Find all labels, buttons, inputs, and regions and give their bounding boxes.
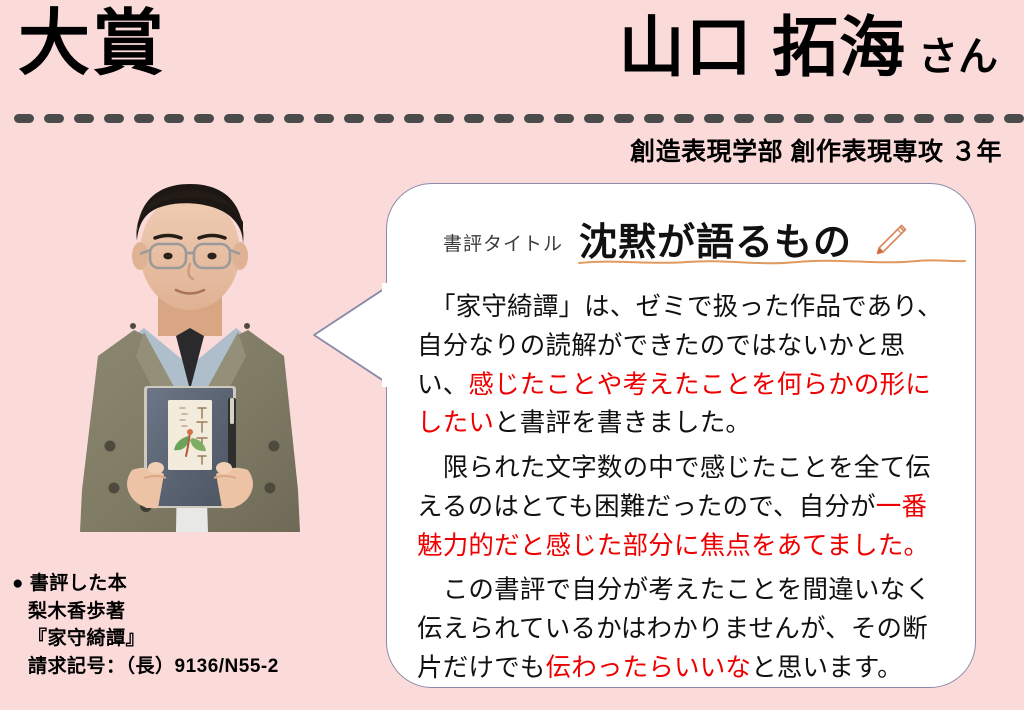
winner-honorific: さん <box>918 37 998 77</box>
divider-dash <box>464 114 484 123</box>
divider-dash <box>44 114 64 123</box>
divider-dash <box>224 114 244 123</box>
review-title-row: 書評タイトル 沈黙が語るもの <box>417 206 949 262</box>
body-text-segment: と書評を書きました。 <box>494 408 751 437</box>
divider-dash <box>734 114 754 123</box>
divider-dash <box>434 114 454 123</box>
award-label: 大賞 <box>18 8 166 80</box>
review-paragraph: 「家守綺譚」は、ゼミで扱った作品であり、自分なりの読解ができたのではないかと思い… <box>417 288 949 443</box>
divider-dash <box>704 114 724 123</box>
body-text-segment: 限られた文字数の中で感じたことを全て伝えるのはとても困難だったので、自分が <box>417 453 931 521</box>
divider-dash <box>884 114 904 123</box>
book-credit-block: ● 書評した本 梨木香歩著 『家守綺譚』 請求記号：（長）9136/N55-2 <box>12 570 279 680</box>
book-credit-heading: 書評した本 <box>30 573 128 594</box>
divider-dash <box>1004 114 1024 123</box>
speech-bubble-tail <box>310 283 390 387</box>
divider-dash <box>374 114 394 123</box>
divider-dash <box>14 114 34 123</box>
book-title: 『家守綺譚』 <box>28 625 279 653</box>
divider-dash <box>974 114 994 123</box>
pencil-icon <box>870 220 910 260</box>
divider-dash <box>284 114 304 123</box>
divider-dash <box>764 114 784 123</box>
dashed-divider <box>14 114 1010 123</box>
divider-dash <box>524 114 544 123</box>
divider-dash <box>314 114 334 123</box>
divider-dash <box>104 114 124 123</box>
winner-name-row: 山口 拓海 さん <box>619 14 998 80</box>
divider-dash <box>164 114 184 123</box>
divider-dash <box>674 114 694 123</box>
review-title-label: 書評タイトル <box>443 229 563 262</box>
book-credit-heading-row: ● 書評した本 <box>12 570 279 598</box>
divider-dash <box>854 114 874 123</box>
book-author: 梨木香歩著 <box>28 598 279 626</box>
review-bubble-content: 書評タイトル 沈黙が語るもの 「家守綺譚」は、ゼミで扱った作品 <box>387 184 975 687</box>
divider-dash <box>944 114 964 123</box>
title-wavy-underline <box>577 256 967 268</box>
divider-dash <box>824 114 844 123</box>
review-speech-bubble: 書評タイトル 沈黙が語るもの 「家守綺譚」は、ゼミで扱った作品 <box>386 183 976 688</box>
divider-dash <box>74 114 94 123</box>
review-paragraph: この書評で自分が考えたことを間違いなく伝えられているかはわかりませんが、その断片… <box>417 571 949 687</box>
divider-dash <box>644 114 664 123</box>
divider-dash <box>344 114 364 123</box>
book-call-number: 請求記号：（長）9136/N55-2 <box>28 653 279 681</box>
divider-dash <box>404 114 424 123</box>
divider-dash <box>494 114 514 123</box>
divider-dash <box>914 114 934 123</box>
divider-dash <box>584 114 604 123</box>
winner-photo <box>40 160 340 560</box>
poster-root: 大賞 山口 拓海 さん 創造表現学部 創作表現専攻 ３年 <box>0 0 1024 710</box>
review-body-text: 「家守綺譚」は、ゼミで扱った作品であり、自分なりの読解ができたのではないかと思い… <box>417 288 949 688</box>
review-paragraph: 限られた文字数の中で感じたことを全て伝えるのはとても困難だったので、自分が一番魅… <box>417 449 949 565</box>
divider-dash <box>794 114 814 123</box>
divider-dash <box>554 114 574 123</box>
highlighted-text: 伝わったらいいな <box>546 653 752 682</box>
winner-name: 山口 拓海 <box>619 14 906 80</box>
bullet-icon: ● <box>12 573 24 594</box>
divider-dash <box>134 114 154 123</box>
divider-dash <box>614 114 634 123</box>
body-text-segment: と思います。 <box>751 653 903 682</box>
affiliation-text: 創造表現学部 創作表現専攻 ３年 <box>630 132 1002 168</box>
divider-dash <box>194 114 214 123</box>
divider-dash <box>254 114 274 123</box>
